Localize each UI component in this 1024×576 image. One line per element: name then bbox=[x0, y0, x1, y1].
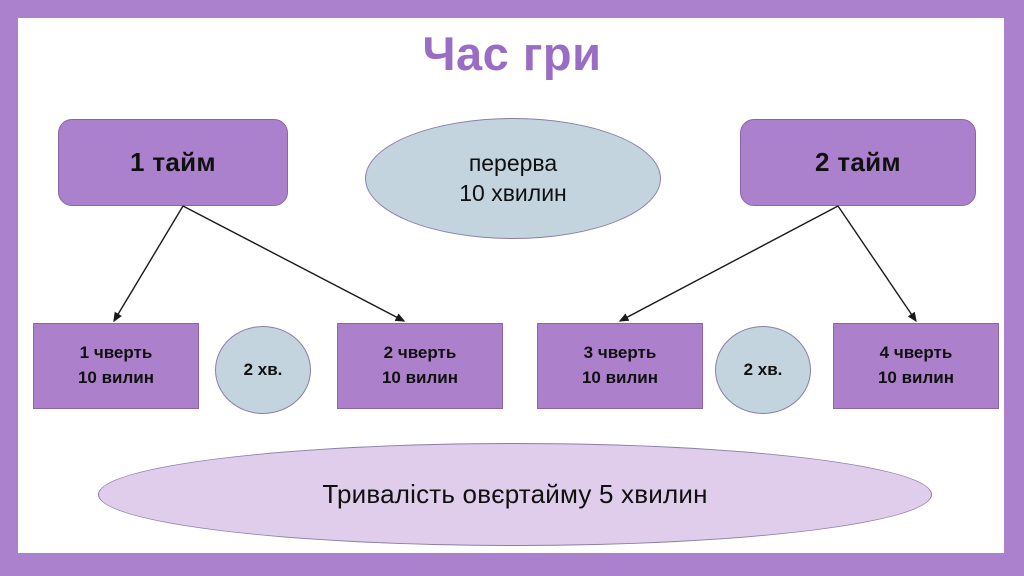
quarter-box-3-line1: 3 чверть bbox=[584, 341, 657, 366]
quarter-box-1-line2: 10 вилин bbox=[78, 366, 154, 391]
break-label-line2: 10 хвилин bbox=[459, 179, 567, 208]
quarter-box-4-line2: 10 вилин bbox=[878, 366, 954, 391]
quarter-box-2-line2: 10 вилин bbox=[382, 366, 458, 391]
quarter-box-4-line1: 4 чверть bbox=[880, 341, 953, 366]
page-title: Час гри bbox=[0, 28, 1024, 80]
half-box-1[interactable]: 1 тайм bbox=[58, 119, 288, 206]
half-box-1-label: 1 тайм bbox=[130, 147, 216, 178]
quarter-box-3-line2: 10 вилин bbox=[582, 366, 658, 391]
pause-circle-1-label: 2 хв. bbox=[244, 360, 283, 380]
break-ellipse[interactable]: перерва 10 хвилин bbox=[365, 118, 661, 239]
half-box-2-label: 2 тайм bbox=[815, 147, 901, 178]
quarter-box-1[interactable]: 1 чверть 10 вилин bbox=[33, 323, 199, 409]
quarter-box-3[interactable]: 3 чверть 10 вилин bbox=[537, 323, 703, 409]
pause-circle-1[interactable]: 2 хв. bbox=[215, 326, 311, 414]
pause-circle-2[interactable]: 2 хв. bbox=[715, 326, 811, 414]
quarter-box-2-line1: 2 чверть bbox=[384, 341, 457, 366]
half-box-2[interactable]: 2 тайм bbox=[740, 119, 976, 206]
slide-frame: Час гри 1 тайм перерва 10 хвилин 2 тайм … bbox=[0, 0, 1024, 576]
quarter-box-4[interactable]: 4 чверть 10 вилин bbox=[833, 323, 999, 409]
quarter-box-2[interactable]: 2 чверть 10 вилин bbox=[337, 323, 503, 409]
overtime-label: Тривалість овєртайму 5 хвилин bbox=[322, 479, 707, 510]
break-label-line1: перерва bbox=[469, 149, 557, 178]
quarter-box-1-line1: 1 чверть bbox=[80, 341, 153, 366]
overtime-ellipse[interactable]: Тривалість овєртайму 5 хвилин bbox=[98, 443, 932, 546]
pause-circle-2-label: 2 хв. bbox=[744, 360, 783, 380]
